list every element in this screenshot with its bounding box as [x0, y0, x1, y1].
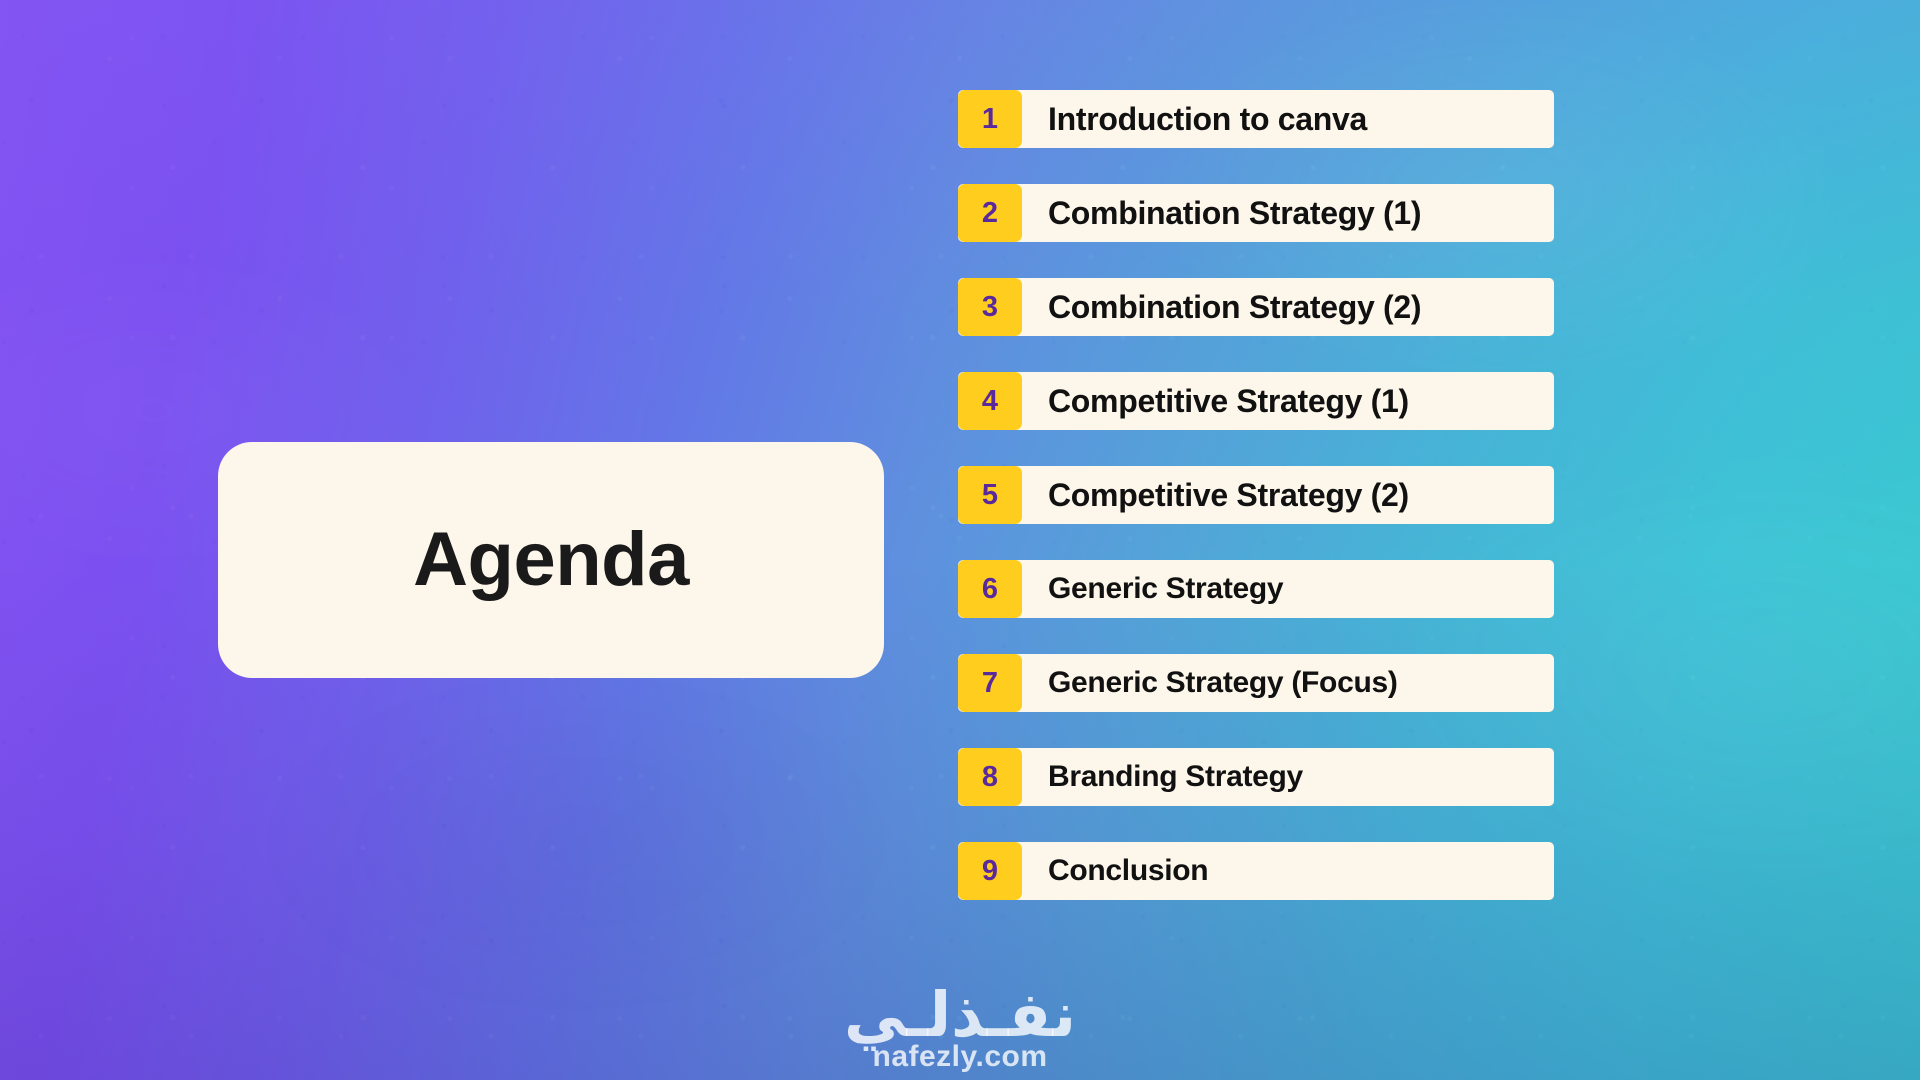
- agenda-list: 1 Introduction to canva 2 Combination St…: [958, 90, 1554, 900]
- agenda-item-7[interactable]: 7 Generic Strategy (Focus): [958, 654, 1554, 712]
- agenda-item-number: 6: [958, 560, 1022, 618]
- agenda-item-label: Combination Strategy (2): [1022, 278, 1554, 336]
- agenda-item-label: Generic Strategy (Focus): [1022, 654, 1554, 712]
- agenda-item-9[interactable]: 9 Conclusion: [958, 842, 1554, 900]
- agenda-item-number: 8: [958, 748, 1022, 806]
- agenda-item-label: Combination Strategy (1): [1022, 184, 1554, 242]
- agenda-item-6[interactable]: 6 Generic Strategy: [958, 560, 1554, 618]
- agenda-item-label: Introduction to canva: [1022, 90, 1554, 148]
- agenda-item-3[interactable]: 3 Combination Strategy (2): [958, 278, 1554, 336]
- agenda-item-label: Conclusion: [1022, 842, 1554, 900]
- agenda-item-number: 9: [958, 842, 1022, 900]
- agenda-item-number: 2: [958, 184, 1022, 242]
- agenda-item-number: 4: [958, 372, 1022, 430]
- agenda-item-number: 5: [958, 466, 1022, 524]
- agenda-item-2[interactable]: 2 Combination Strategy (1): [958, 184, 1554, 242]
- agenda-item-label: Branding Strategy: [1022, 748, 1554, 806]
- agenda-item-number: 3: [958, 278, 1022, 336]
- agenda-item-1[interactable]: 1 Introduction to canva: [958, 90, 1554, 148]
- agenda-item-number: 1: [958, 90, 1022, 148]
- agenda-item-8[interactable]: 8 Branding Strategy: [958, 748, 1554, 806]
- agenda-slide: Agenda 1 Introduction to canva 2 Combina…: [0, 0, 1920, 1080]
- agenda-item-4[interactable]: 4 Competitive Strategy (1): [958, 372, 1554, 430]
- page-title: Agenda: [413, 522, 689, 598]
- agenda-title-card: Agenda: [218, 442, 884, 678]
- agenda-item-label: Competitive Strategy (1): [1022, 372, 1554, 430]
- agenda-item-label: Competitive Strategy (2): [1022, 466, 1554, 524]
- agenda-item-number: 7: [958, 654, 1022, 712]
- agenda-item-5[interactable]: 5 Competitive Strategy (2): [958, 466, 1554, 524]
- agenda-item-label: Generic Strategy: [1022, 560, 1554, 618]
